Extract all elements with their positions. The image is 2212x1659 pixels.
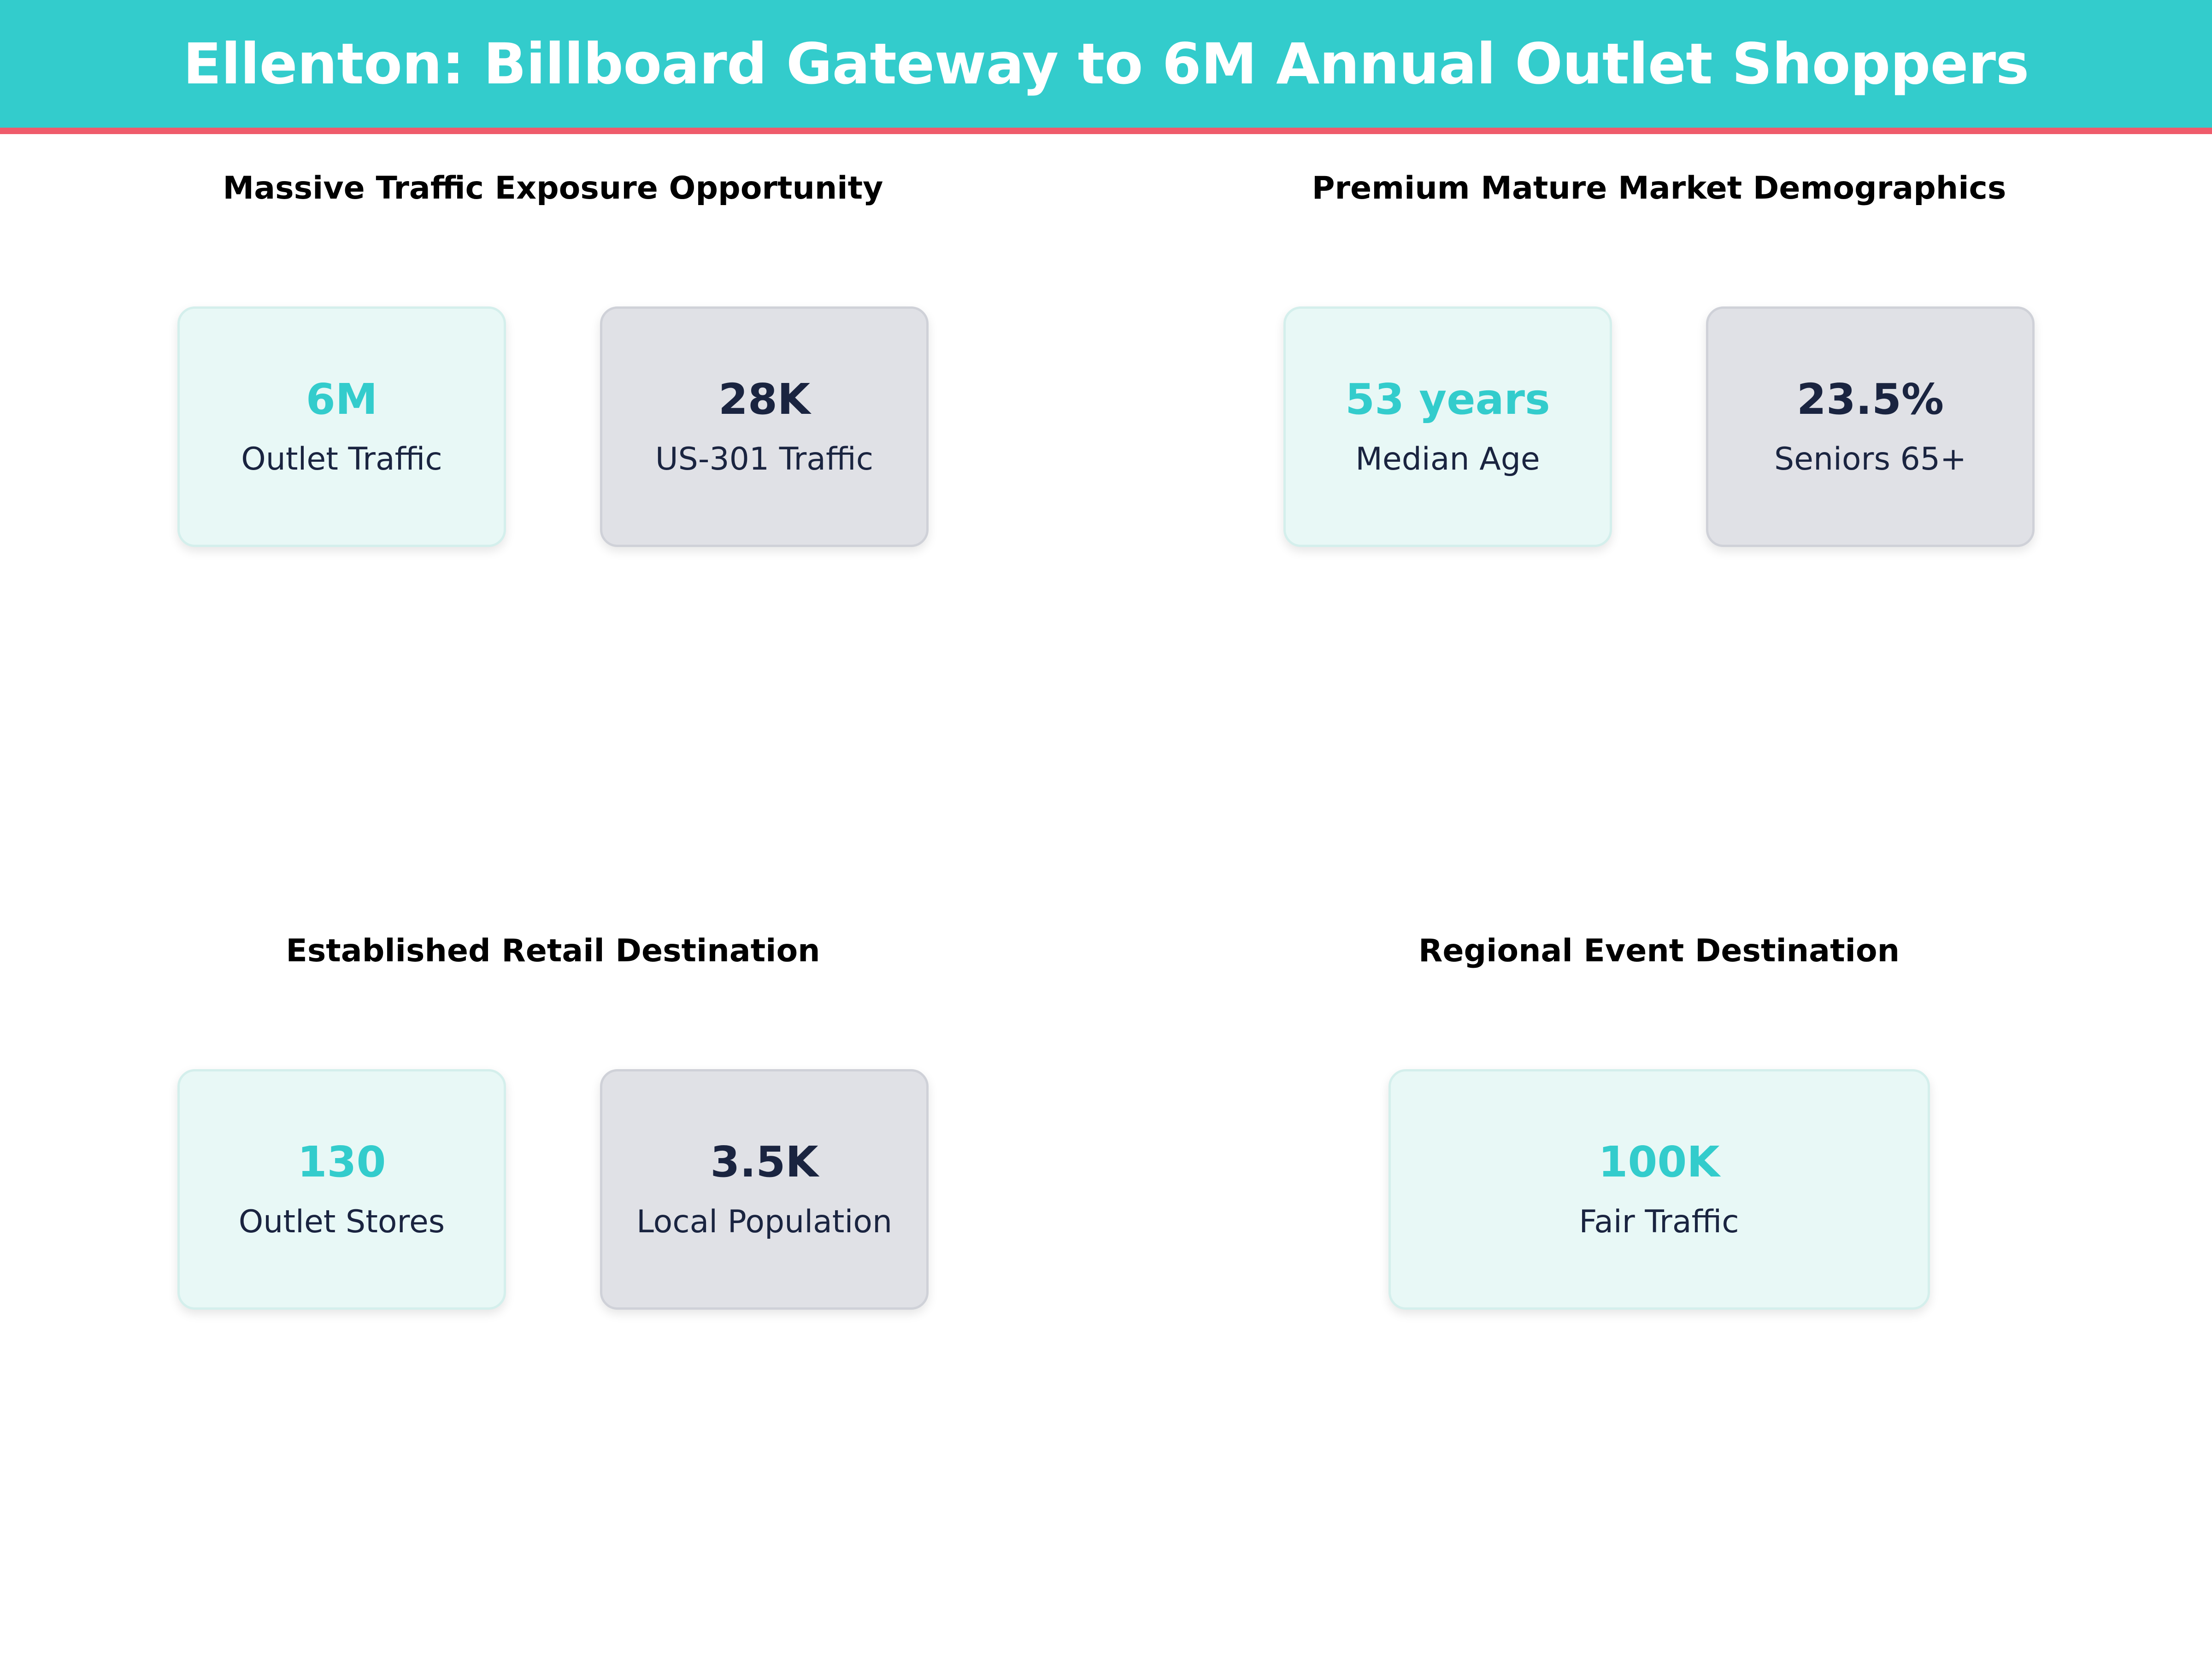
stat-value: 6M xyxy=(306,378,378,421)
stat-value: 130 xyxy=(297,1141,386,1183)
stat-card-row: 100K Fair Traffic xyxy=(1388,1069,1930,1310)
stat-label: Seniors 65+ xyxy=(1774,444,1966,475)
stat-card-outlet-traffic[interactable]: 6M Outlet Traffic xyxy=(177,306,506,547)
stat-card-row: 6M Outlet Traffic 28K US-301 Traffic xyxy=(177,306,929,547)
stat-label: Local Population xyxy=(636,1206,892,1238)
panel-established-retail-destination: Established Retail Destination 130 Outle… xyxy=(0,897,1106,1659)
panel-title: Massive Traffic Exposure Opportunity xyxy=(223,173,883,204)
stat-card-us-301-traffic[interactable]: 28K US-301 Traffic xyxy=(600,306,929,547)
stat-value: 3.5K xyxy=(710,1141,818,1183)
stat-label: Outlet Traffic xyxy=(241,444,442,475)
panel-title: Premium Mature Market Demographics xyxy=(1312,173,2006,204)
stat-card-row: 53 years Median Age 23.5% Seniors 65+ xyxy=(1283,306,2035,547)
stat-value: 53 years xyxy=(1345,378,1550,421)
stat-card-seniors-65-plus[interactable]: 23.5% Seniors 65+ xyxy=(1706,306,2035,547)
stat-value: 28K xyxy=(718,378,810,421)
page-title: Ellenton: Billboard Gateway to 6M Annual… xyxy=(183,36,2029,92)
panel-regional-event-destination: Regional Event Destination 100K Fair Tra… xyxy=(1106,897,2212,1659)
header-accent-divider xyxy=(0,128,2212,134)
panel-title: Established Retail Destination xyxy=(286,935,820,967)
header-bar: Ellenton: Billboard Gateway to 6M Annual… xyxy=(0,0,2212,128)
stat-label: Fair Traffic xyxy=(1579,1206,1739,1238)
stat-card-fair-traffic[interactable]: 100K Fair Traffic xyxy=(1388,1069,1930,1310)
stat-card-row: 130 Outlet Stores 3.5K Local Population xyxy=(177,1069,929,1310)
panel-grid: Massive Traffic Exposure Opportunity 6M … xyxy=(0,134,2212,1659)
panel-premium-mature-market-demographics: Premium Mature Market Demographics 53 ye… xyxy=(1106,134,2212,897)
stat-card-outlet-stores[interactable]: 130 Outlet Stores xyxy=(177,1069,506,1310)
panel-title: Regional Event Destination xyxy=(1418,935,1900,967)
stat-card-median-age[interactable]: 53 years Median Age xyxy=(1283,306,1612,547)
stat-value: 23.5% xyxy=(1797,378,1944,421)
stat-label: Outlet Stores xyxy=(239,1206,445,1238)
stat-label: US-301 Traffic xyxy=(655,444,873,475)
panel-massive-traffic-exposure-opportunity: Massive Traffic Exposure Opportunity 6M … xyxy=(0,134,1106,897)
stat-value: 100K xyxy=(1598,1141,1719,1183)
stat-label: Median Age xyxy=(1355,444,1540,475)
stat-card-local-population[interactable]: 3.5K Local Population xyxy=(600,1069,929,1310)
